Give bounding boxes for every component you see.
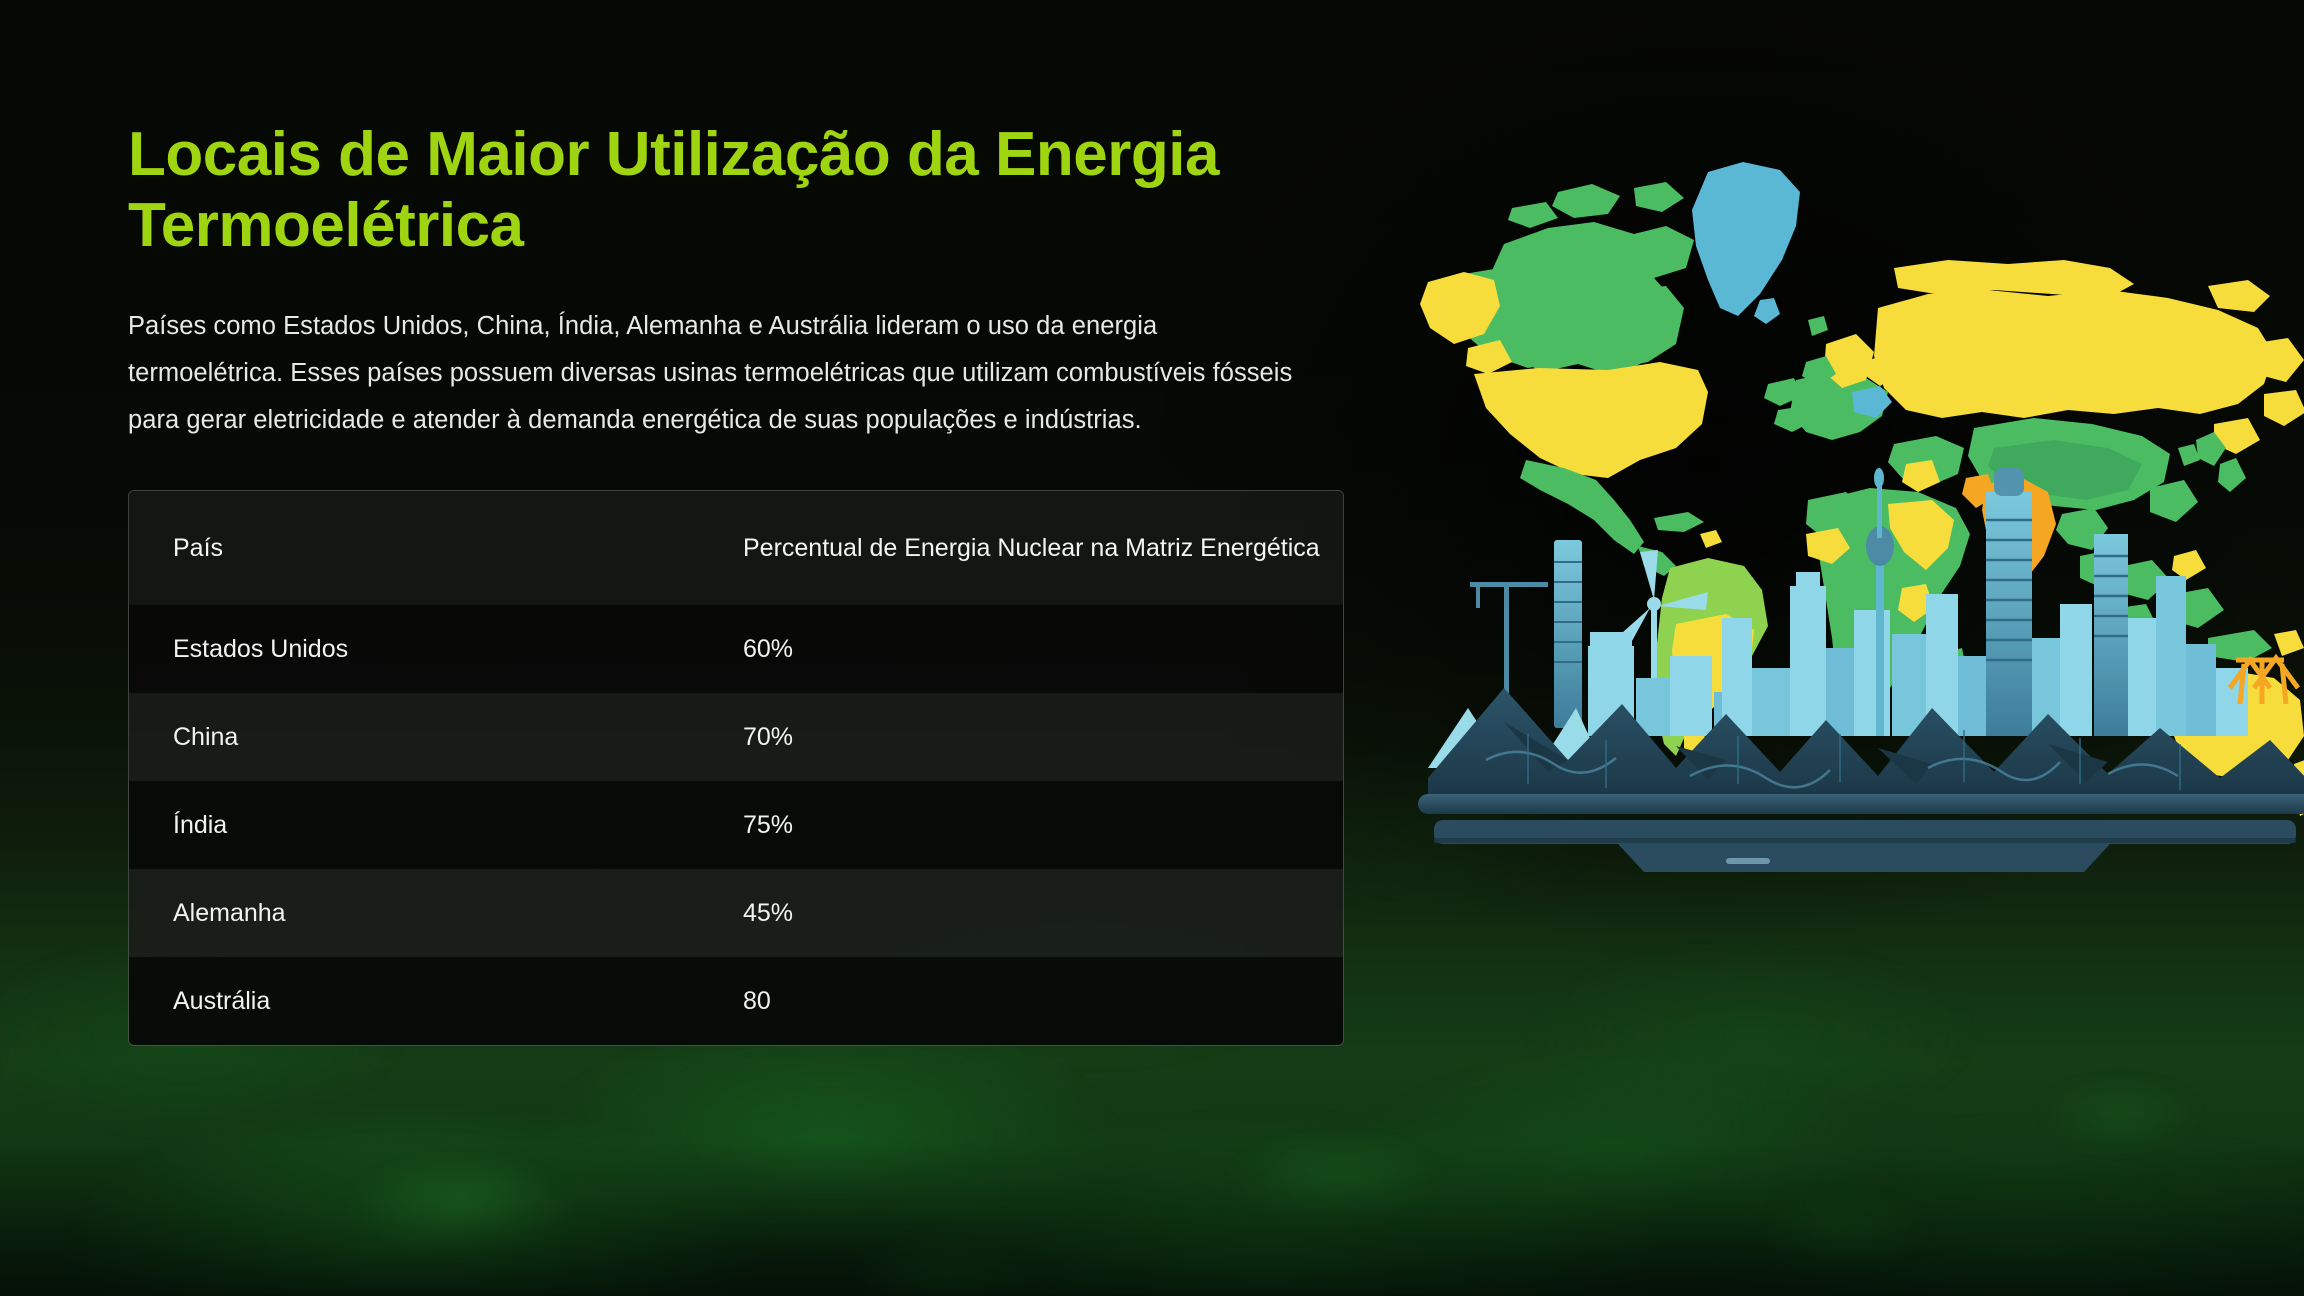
intro-paragraph: Países como Estados Unidos, China, Índia…: [128, 303, 1308, 444]
cell-percent: 80: [737, 983, 1343, 1019]
crane-icon: [1470, 582, 1548, 708]
cell-percent: 70%: [737, 719, 1343, 755]
page-title: Locais de Maior Utilização da Energia Te…: [128, 120, 1248, 261]
cell-percent: 60%: [737, 631, 1343, 667]
tablet-base-icon: [1418, 794, 2304, 872]
cell-country: Austrália: [129, 983, 737, 1019]
bridge-icon: [2230, 658, 2298, 704]
table-row[interactable]: China 70%: [129, 693, 1343, 781]
cell-country: Estados Unidos: [129, 631, 737, 667]
energy-table: País Percentual de Energia Nuclear na Ma…: [128, 490, 1344, 1046]
table-row[interactable]: Estados Unidos 60%: [129, 605, 1343, 693]
column-header-percent: Percentual de Energia Nuclear na Matriz …: [737, 522, 1343, 574]
illustration-world-map-city: [1408, 148, 2304, 1028]
table-row[interactable]: Alemanha 45%: [129, 869, 1343, 957]
column-header-country: País: [129, 522, 737, 574]
table-header-row: País Percentual de Energia Nuclear na Ma…: [129, 491, 1343, 605]
cell-country: China: [129, 719, 737, 755]
cell-percent: 75%: [737, 807, 1343, 843]
table-row[interactable]: Austrália 80: [129, 957, 1343, 1045]
cell-percent: 45%: [737, 895, 1343, 931]
cell-country: Índia: [129, 807, 737, 843]
page-root: Locais de Maior Utilização da Energia Te…: [0, 0, 2304, 1296]
table-row[interactable]: Índia 75%: [129, 781, 1343, 869]
cell-country: Alemanha: [129, 895, 737, 931]
main-content: Locais de Maior Utilização da Energia Te…: [128, 120, 1368, 1046]
